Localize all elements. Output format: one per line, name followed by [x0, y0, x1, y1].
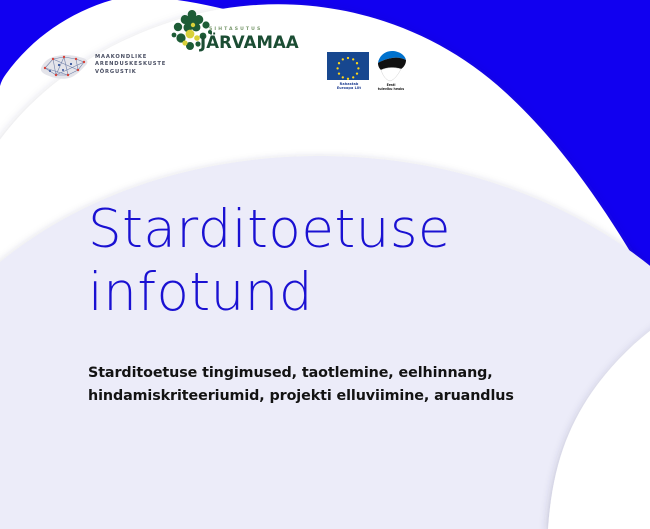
eu-caption: Rahastab Euroopa Liit	[327, 82, 371, 91]
estonia-flag-icon	[372, 50, 410, 82]
sihtasutus-jarvamaa-logo: SIHTASUTUS JÄRVAMAA	[168, 8, 280, 56]
eu-flag-icon	[327, 52, 369, 80]
maakondlike-arenduskeskuste-vorgustik-logo: MAAKONDLIKE ARENDUSKESKUSTE VÕRGUSTIK	[38, 48, 166, 82]
jarvamaa-wordmark: JÄRVAMAA	[200, 33, 299, 52]
mak-wordmark: MAAKONDLIKE ARENDUSKESKUSTE VÕRGUSTIK	[95, 54, 166, 77]
estonia-caption: Eesti tuleviku heaks	[370, 83, 412, 91]
estonia-emblem: Eesti tuleviku heaks	[370, 50, 412, 91]
slide-content: Starditoetuse infotund Starditoetuse tin…	[88, 198, 558, 408]
page-subtitle: Starditoetuse tingimused, taotlemine, ee…	[88, 362, 538, 408]
title-slide: MAAKONDLIKE ARENDUSKESKUSTE VÕRGUSTIK	[0, 0, 650, 529]
page-title: Starditoetuse infotund	[88, 198, 558, 324]
network-map-icon	[38, 48, 90, 82]
european-union-emblem: Rahastab Euroopa Liit	[327, 52, 371, 91]
logo-bar: MAAKONDLIKE ARENDUSKESKUSTE VÕRGUSTIK	[0, 0, 650, 100]
jarvamaa-small-caps: SIHTASUTUS	[209, 27, 262, 32]
